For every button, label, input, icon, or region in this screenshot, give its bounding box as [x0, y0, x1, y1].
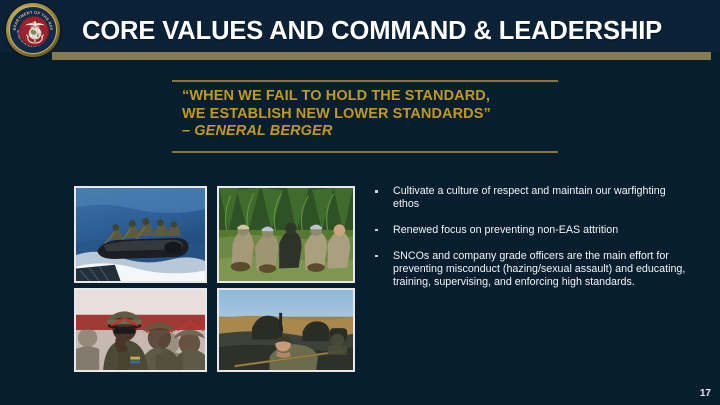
bullet-text: SNCOs and company grade officers are the…	[393, 250, 692, 290]
photo-jungle-patrol-brief	[217, 186, 355, 283]
quote-line-2: WE ESTABLISH NEW LOWER STANDARDS”	[182, 106, 582, 124]
quote-rule-top	[172, 80, 558, 82]
list-item: SNCOs and company grade officers are the…	[372, 250, 692, 290]
seal-ring: DEPARTMENT OF THE NAVY UNITED STATES MAR…	[9, 6, 57, 54]
header-accent-bar	[52, 52, 711, 60]
seal-center-disc	[19, 16, 49, 46]
bullet-marker-icon	[375, 190, 378, 193]
photo-dress-uniform-formation	[74, 288, 207, 372]
bullet-text: Cultivate a culture of respect and maint…	[393, 185, 692, 211]
quote-line-1: “WHEN WE FAIL TO HOLD THE STANDARD,	[182, 88, 582, 106]
bullet-marker-icon	[375, 255, 378, 258]
page-title: CORE VALUES AND COMMAND & LEADERSHIP	[82, 17, 662, 46]
bullet-list: Cultivate a culture of respect and maint…	[372, 185, 692, 302]
presentation-slide: DEPARTMENT OF THE NAVY UNITED STATES MAR…	[0, 0, 720, 405]
list-item: Renewed focus on preventing non-EAS attr…	[372, 224, 692, 237]
bullet-marker-icon	[375, 229, 378, 232]
quote-attribution: – GENERAL BERGER	[182, 123, 582, 141]
eagle-globe-anchor-icon	[22, 18, 48, 46]
quote-block: “WHEN WE FAIL TO HOLD THE STANDARD, WE E…	[182, 88, 582, 141]
usmc-seal-icon: DEPARTMENT OF THE NAVY UNITED STATES MAR…	[6, 3, 60, 57]
quote-rule-bottom	[172, 151, 558, 153]
photo-combat-rubber-raiding-craft	[74, 186, 207, 283]
bullet-text: Renewed focus on preventing non-EAS attr…	[393, 224, 692, 237]
list-item: Cultivate a culture of respect and maint…	[372, 185, 692, 211]
photo-low-crawl-training	[217, 288, 355, 372]
page-number: 17	[700, 388, 711, 399]
